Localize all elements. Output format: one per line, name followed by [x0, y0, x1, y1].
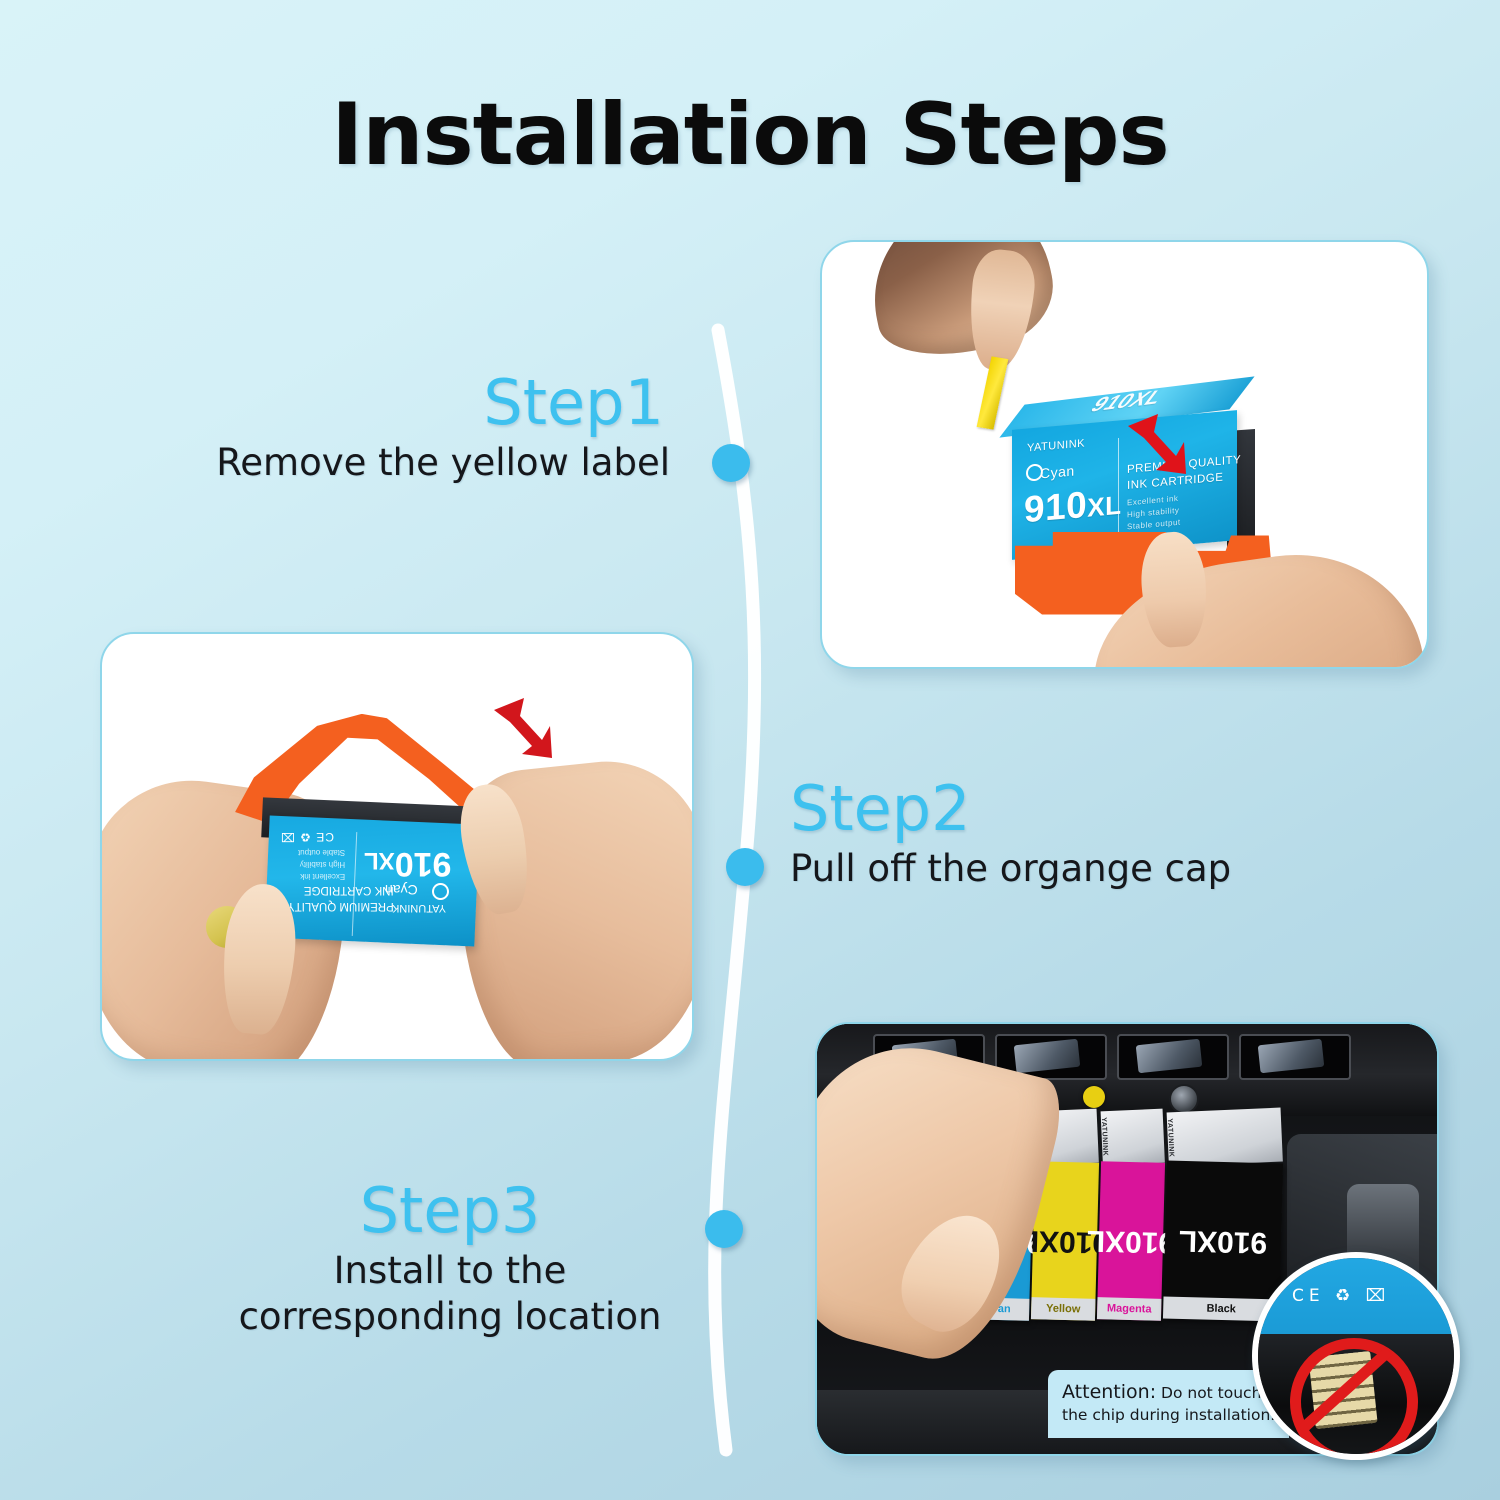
page-title: Installation Steps [0, 92, 1500, 178]
step-3-text-block: Step3 Install to the corresponding locat… [230, 1180, 670, 1341]
cartridge-premium-text: PREMIUM QUALITYINK CARTRIDGE [287, 882, 394, 913]
step-2-description: Pull off the organge cap [790, 846, 1350, 892]
cartridge-brand: YATUNINK [1100, 1117, 1109, 1156]
carriage-slot-3 [1117, 1034, 1229, 1080]
carriage-screw [1169, 1084, 1199, 1114]
cartridge-color-name: Magenta [1097, 1297, 1162, 1321]
cartridge-fine-print: Excellent ink High stability Stable outp… [298, 846, 345, 882]
attention-strong: Attention: [1062, 1381, 1156, 1403]
carriage-slot-4 [1239, 1034, 1351, 1080]
installation-steps-infographic: Installation Steps Step1 Remove the yell… [0, 0, 1500, 1500]
cert-icons: CE ♻ ⌧ [1292, 1286, 1390, 1306]
cartridge-brand: YATUNINK [392, 902, 446, 914]
cartridge-cert-icons: CE ♻ ⌧ [280, 830, 334, 844]
label-divider [1118, 438, 1119, 548]
chip-magnifier-inset: CE ♻ ⌧ [1252, 1252, 1460, 1460]
step-2-text-block: Step2 Pull off the organge cap [790, 778, 1350, 892]
carriage-color-dot-yellow [1083, 1086, 1105, 1108]
cartridge-model: 910XL [1024, 481, 1121, 532]
step-3-description: Install to the corresponding location [230, 1248, 670, 1341]
step-1-text-block: Step1 Remove the yellow label [140, 372, 670, 486]
cartridge-model: 910XL [1086, 1223, 1175, 1259]
step-2-label: Step2 [790, 778, 1350, 840]
yellow-label [977, 356, 1009, 429]
step-1-label: Step1 [140, 372, 670, 434]
step-2-photo: 910XL Cyan YATUNINK PREMIUM QUALITYINK C… [100, 632, 694, 1061]
timeline-dot-step1 [712, 444, 750, 482]
cartridge-color-name: Cyan [1040, 462, 1075, 481]
attention-callout: Attention: Do not touch the chip during … [1048, 1370, 1289, 1438]
timeline-dot-step2 [726, 848, 764, 886]
prohibition-icon [1290, 1338, 1418, 1460]
step-1-description: Remove the yellow label [140, 440, 670, 486]
cartridge-cap: YATUNINK [1167, 1108, 1283, 1167]
cartridge-color-name: Yellow [1031, 1297, 1096, 1321]
installed-cartridge-magenta: YATUNINK 910XL Magenta [1097, 1161, 1165, 1321]
cartridge-cap: YATUNINK [1101, 1109, 1165, 1166]
timeline-dot-step3 [705, 1210, 743, 1248]
cartridge-model: 910XL [1178, 1223, 1267, 1259]
hand-top [856, 240, 1063, 369]
cartridge-fine-print: Excellent ink High stability Stable outp… [1127, 493, 1181, 534]
cartridge-model: 910XL [364, 844, 451, 883]
cartridge-brand: YATUNINK [1166, 1118, 1175, 1157]
step-1-photo: 910XL YATUNINK Cyan 910XL PREMIUM QUALIT… [820, 240, 1429, 669]
color-circle-icon [432, 883, 449, 900]
step-3-label: Step3 [230, 1180, 670, 1242]
